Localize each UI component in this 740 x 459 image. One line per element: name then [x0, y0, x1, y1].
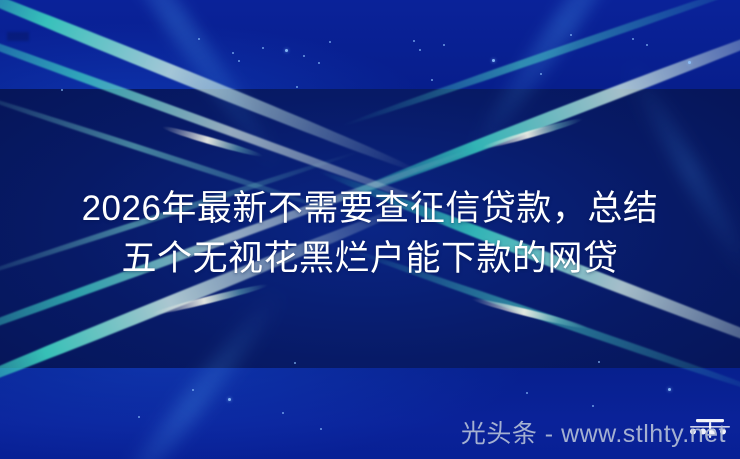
particle-dot	[598, 361, 600, 363]
particle-dot	[282, 412, 284, 414]
particle-dot	[296, 86, 298, 88]
particle-dot	[570, 34, 572, 36]
particle-dot	[329, 41, 331, 43]
background-band-top-gradient	[0, 0, 740, 89]
particle-dot	[303, 55, 305, 57]
particle-dot	[192, 389, 194, 391]
particle-dot	[413, 40, 415, 42]
particle-dot	[238, 60, 240, 62]
particle-dot	[228, 398, 231, 401]
particle-dot	[492, 59, 495, 62]
particle-dot	[320, 428, 322, 430]
particle-dot	[138, 416, 140, 418]
particle-dot	[632, 38, 634, 40]
particle-dot	[61, 89, 63, 91]
particle-dot	[592, 405, 594, 407]
background-band-top	[0, 0, 740, 89]
headline-line-2: 五个无视花黑烂户能下款的网贷	[0, 234, 740, 284]
particle-dot	[668, 388, 671, 391]
particle-dot	[294, 362, 296, 364]
particle-dot	[526, 392, 528, 394]
particle-dot	[318, 62, 320, 64]
particle-dot	[688, 61, 691, 64]
watermark: 光头条 - www.stlhty.net	[461, 414, 726, 450]
particle-dot	[262, 47, 264, 49]
particle-dot	[419, 49, 421, 51]
particle-dot	[431, 79, 433, 81]
corner-artifact	[7, 32, 29, 41]
particle-dot	[232, 52, 234, 54]
watermark-text: 光头条 - www.stlhty.net	[461, 414, 726, 450]
particle-dot	[540, 73, 542, 75]
headline-line-1: 2026年最新不需要查征信贷款，总结	[0, 184, 740, 234]
headline-block: 2026年最新不需要查征信贷款，总结 五个无视花黑烂户能下款的网贷	[0, 184, 740, 284]
particle-dot	[646, 44, 648, 46]
banner-image: 2026年最新不需要查征信贷款，总结 五个无视花黑烂户能下款的网贷 光头条 - …	[0, 0, 740, 459]
particle-dot	[198, 38, 200, 40]
particle-dot	[285, 49, 288, 52]
particle-dot	[443, 44, 445, 46]
